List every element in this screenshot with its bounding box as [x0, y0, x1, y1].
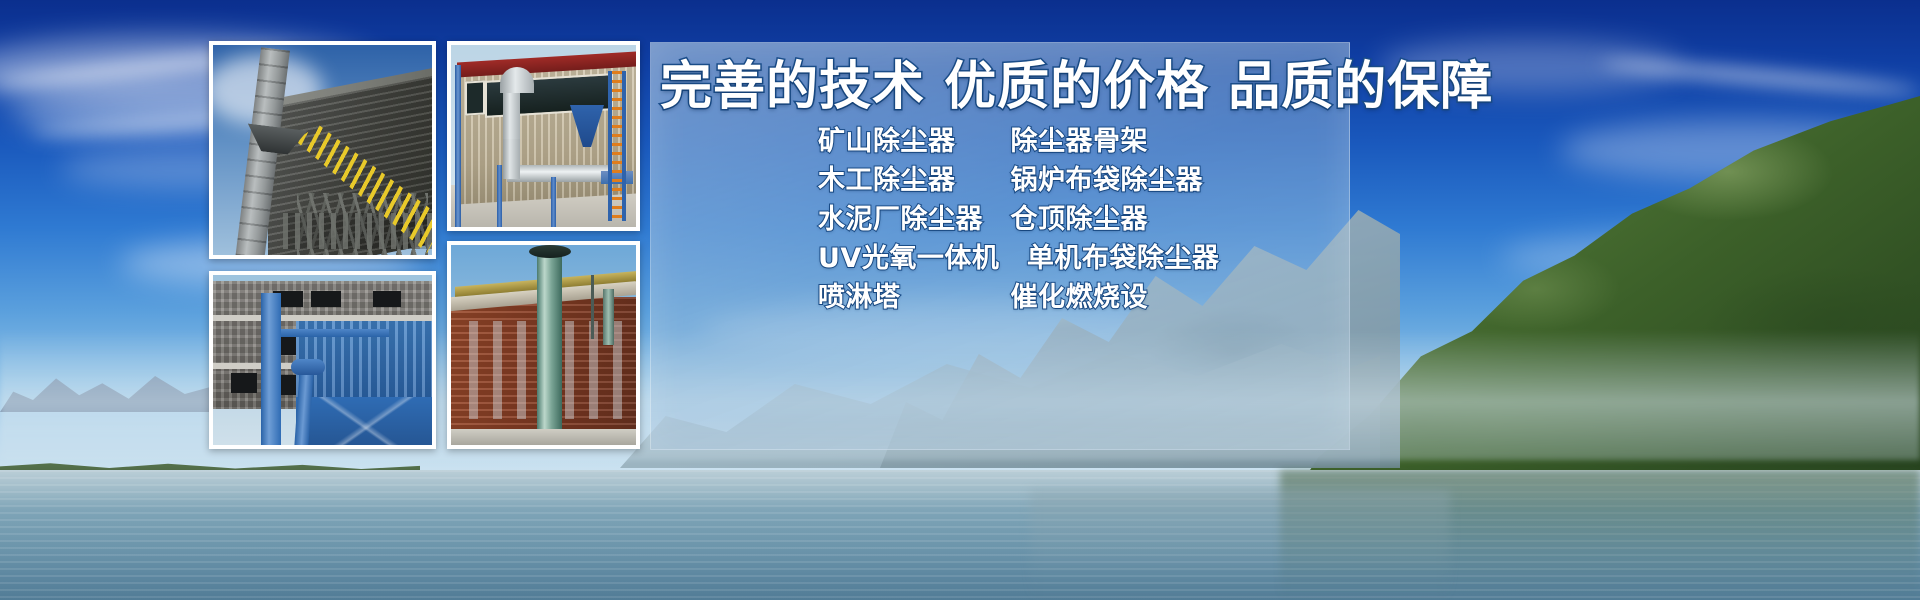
product-line: 矿山除尘器 除尘器骨架 — [818, 128, 1338, 167]
mine-dust-collector-photo[interactable] — [209, 41, 436, 259]
blue-column — [261, 293, 281, 445]
blue-support-pipe — [551, 177, 556, 227]
blue-support-pipe — [455, 65, 461, 227]
water-reflection — [1030, 490, 1450, 600]
secondary-stack — [603, 289, 614, 345]
building-window — [311, 291, 341, 307]
blue-support-pipe — [497, 165, 502, 227]
photo-inner — [213, 45, 432, 255]
horizontal-duct — [507, 165, 611, 182]
product-line: 喷淋塔 催化燃烧设 — [818, 284, 1338, 323]
duct-elbow — [291, 359, 325, 375]
product-line: 木工除尘器 锅炉布袋除尘器 — [818, 167, 1338, 206]
product-list: 矿山除尘器 除尘器骨架 木工除尘器 锅炉布袋除尘器 水泥厂除尘器 仓顶除尘器 U… — [818, 128, 1338, 323]
orange-ladder — [608, 71, 626, 221]
antenna-mast — [591, 275, 594, 339]
support-beam — [269, 329, 389, 337]
product-line: 水泥厂除尘器 仓顶除尘器 — [818, 206, 1338, 245]
duct-elbow — [500, 67, 534, 93]
blue-baghouse-photo[interactable] — [209, 271, 436, 449]
promo-banner: 完善的技术 优质的价格 品质的保障 矿山除尘器 除尘器骨架 木工除尘器 锅炉布袋… — [0, 0, 1920, 600]
blue-hopper — [296, 397, 432, 445]
scrubber-stack-photo[interactable] — [447, 241, 640, 449]
stack-cap — [529, 245, 571, 258]
building-window — [231, 373, 257, 393]
workshop-duct-system-photo[interactable] — [447, 41, 640, 231]
building-window — [373, 291, 401, 307]
building-window — [465, 80, 485, 115]
scrubber-tower — [537, 251, 562, 445]
photo-inner — [213, 275, 432, 445]
vertical-duct — [503, 133, 520, 179]
photo-inner — [451, 45, 636, 227]
product-line: UV光氧一体机 单机布袋除尘器 — [818, 245, 1338, 284]
lake-water — [0, 470, 1920, 600]
photo-inner — [451, 245, 636, 445]
banner-headline: 完善的技术 优质的价格 品质的保障 — [660, 58, 1350, 116]
concrete-ground — [451, 429, 636, 445]
